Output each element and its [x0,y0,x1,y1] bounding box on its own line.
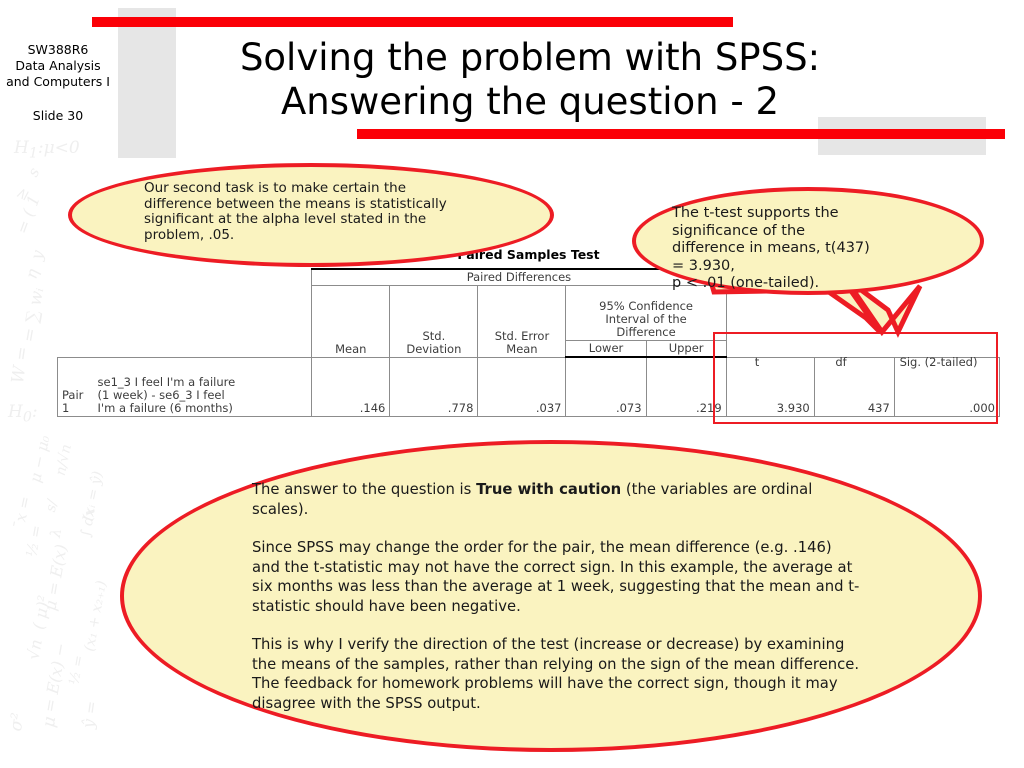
callout-bubble-answer-text: The answer to the question is True with … [252,480,860,713]
table-corner-cell [58,269,312,357]
cell-lower: .073 [566,357,646,416]
watermark-formula: ŷ = [78,700,101,730]
watermark-formula: ½ = [22,524,45,559]
ttest-line4: = 3.930, [672,258,972,276]
watermark-formula: s/ [43,499,61,514]
course-id-line2: Data Analysis [4,58,112,74]
variable-line3: I'm a failure (6 months) [98,402,308,415]
callout-bubble-ttest-text: The t-test supports the significance of … [672,205,972,293]
slide-number: Slide 30 [4,108,112,123]
row-variable-label: se1_3 I feel I'm a failure (1 week) - se… [94,357,312,416]
callout-bubble-task-text: Our second task is to make certain the d… [144,181,474,243]
std-err-line1: Std. Error [482,330,561,343]
std-err-line2: Mean [482,343,561,356]
pair-line2: 1 [62,402,90,415]
watermark-formula: = ∑ wᵢ [19,286,48,344]
answer-paragraph-1: The answer to the question is True with … [252,480,860,519]
watermark-formula: = ( 1 [12,192,44,236]
course-identifier: SW388R6 Data Analysis and Computers I [4,42,112,90]
cell-std-deviation: .778 [390,357,478,416]
col-header-std-deviation: Std. Deviation [390,286,478,358]
watermark-formula: ½ = [66,654,87,686]
watermark-formula: η y [21,248,47,281]
watermark-formula: ̄x = [11,495,34,524]
col-header-sig: Sig. (2-tailed) [881,355,996,369]
col-header-df: df [801,355,881,369]
watermark-formula: (xᵢ = ŷ) [80,470,106,522]
variable-line1: se1_3 I feel I'm a failure [98,376,308,389]
header-red-bar-bottom [357,129,1005,139]
answer-paragraph-3: This is why I verify the direction of th… [252,635,860,713]
watermark-formula: (x₁ + x₂₊₁) [82,579,110,652]
col-header-t: t [713,355,801,369]
watermark-formula: H0: [8,402,38,425]
watermark-formula: μ = E(x) [40,543,70,612]
watermark-formula: μ [39,715,60,729]
page-title: Solving the problem with SPSS: Answering… [180,36,880,124]
watermark-formula: σ² [6,711,28,732]
variable-line2: (1 week) - se6_3 I feel [98,389,308,402]
std-dev-line2: Deviation [394,343,473,356]
cell-std-error-mean: .037 [478,357,566,416]
ttest-line5: p < .01 (one-tailed). [672,275,972,293]
watermark-formula: n/√n [53,443,75,477]
watermark-formula: √n ( μ)² [24,594,54,661]
ttest-line1: The t-test supports the [672,205,972,223]
answer-paragraph-2: Since SPSS may change the order for the … [252,538,860,616]
callout-bubble-task: Our second task is to make certain the d… [68,163,554,267]
watermark-formula: ∫ dx [78,508,99,539]
std-dev-line1: Std. [394,330,473,343]
col-header-lower: Lower [566,341,646,358]
watermark-formula: λ [48,527,65,539]
header-gray-block-left [118,8,176,158]
watermark-formula: = E(x) − [40,641,71,713]
ci-line3: Difference [570,326,721,339]
course-id-line1: SW388R6 [4,42,112,58]
header-red-bar-top [92,17,733,27]
page-title-line1: Solving the problem with SPSS: [180,36,880,80]
watermark-formula: H1:μ<0 [14,138,80,161]
answer-p1-bold: True with caution [476,481,621,498]
watermark-formula: W = [8,345,33,385]
page-title-line2: Answering the question - 2 [180,80,880,124]
col-header-confidence-interval: 95% Confidence Interval of the Differenc… [566,286,726,341]
callout-bubble-answer: The answer to the question is True with … [120,440,982,752]
course-id-line3: and Computers I [4,74,112,90]
ttest-line2: significance of the [672,223,972,241]
callout-bubble-ttest: The t-test supports the significance of … [632,187,984,295]
cell-mean: .146 [312,357,390,416]
watermark-formula: μ − μ₀ [26,434,54,484]
ttest-line3: difference in means, t(437) [672,240,972,258]
row-pair-label: Pair 1 [58,357,94,416]
col-header-mean: Mean [312,286,390,358]
pair-line1: Pair [62,389,90,402]
answer-p1-pre: The answer to the question is [252,481,476,498]
watermark-formula: ≥ s [11,165,43,204]
slide-canvas: H1:μ<0 ≥ s = ( 1 η y = ∑ wᵢ W = H0: μ − … [0,0,1024,768]
col-header-std-error-mean: Std. Error Mean [478,286,566,358]
